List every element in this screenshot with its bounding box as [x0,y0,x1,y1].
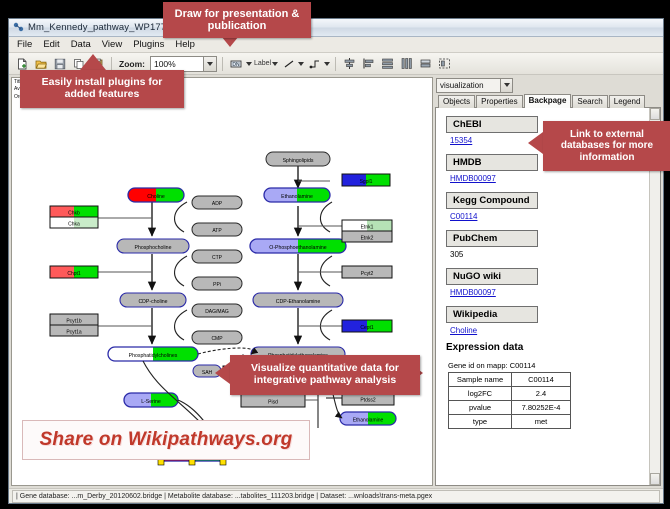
gene-box-sgpl1[interactable]: Sgpl1 [342,174,390,186]
svg-text:Chpt1: Chpt1 [67,271,81,277]
db-header-wikipedia: Wikipedia [446,306,538,323]
expression-table: Sample name C00114 log2FC 2.4 pvalue 7.8… [448,372,571,429]
line-dropdown[interactable] [280,55,304,72]
svg-text:Pcyt1b: Pcyt1b [66,319,82,325]
title-bar: Mm_Kennedy_pathway_WP1771_45176.gpml [9,19,663,37]
label-dropdown[interactable]: Label [254,60,278,67]
gene-box-etnk1-etnk2[interactable]: Etnk1 Etnk2 [342,220,392,242]
menu-data[interactable]: Data [66,38,96,52]
align-center-icon[interactable] [341,55,358,72]
node-phosphocholine[interactable]: Phosphocholine [117,239,189,253]
db-header-nugo-wiki: NuGO wiki [446,268,538,285]
db-header-kegg-compound: Kegg Compound [446,192,538,209]
tab-properties[interactable]: Properties [476,95,522,108]
gene-box-chpt1[interactable]: Chpt1 [50,266,98,278]
svg-text:Chka: Chka [68,222,80,228]
expr-val-pvalue: 7.80252E-4 [512,401,571,415]
datanode-icon[interactable]: DN [228,55,245,72]
svg-text:Sgpl1: Sgpl1 [360,179,373,185]
chevron-down-icon[interactable] [203,57,216,71]
db-link-wikipedia[interactable]: Choline [450,326,652,335]
expr-val-log2fc: 2.4 [512,387,571,401]
distribute-horizontal-icon[interactable] [398,55,415,72]
visualization-value: visualization [440,81,484,90]
table-row: pvalue 7.80252E-4 [449,401,571,415]
db-header-chebi: ChEBI [446,116,538,133]
svg-text:DAG/MAG: DAG/MAG [205,309,229,315]
callout-links: Link to external databases for more info… [543,121,670,171]
callout-plugins: Easily install plugins for added feature… [20,70,184,108]
callout-draw: Draw for presentation & publication [163,2,311,38]
svg-text:ATP: ATP [212,228,222,234]
menu-edit[interactable]: Edit [38,38,64,52]
svg-text:Etnk2: Etnk2 [361,236,374,242]
svg-text:Phosphatidylcholines: Phosphatidylcholines [129,353,178,359]
status-bar-text: | Gene database: ...m_Derby_20120602.bri… [12,490,660,503]
distribute-vertical-icon[interactable] [379,55,396,72]
table-row: log2FC 2.4 [449,387,571,401]
menu-bar: File Edit Data View Plugins Help [9,37,663,53]
scroll-up-arrow[interactable] [650,108,660,120]
pathvisio-icon [13,22,24,33]
node-cdp-choline[interactable]: CDP-choline [120,293,186,307]
svg-text:Ethanolamine: Ethanolamine [353,418,384,424]
gene-box-pisd[interactable]: Pisd [241,394,318,407]
chevron-down-icon[interactable] [324,62,330,66]
db-value-pubchem: 305 [450,250,652,259]
callout-share-text: Share on Wikipathways.org [40,429,293,451]
node-atp[interactable]: ATP [192,223,242,236]
chevron-down-icon[interactable] [246,62,252,66]
svg-text:CDP-Ethanolamine: CDP-Ethanolamine [276,299,321,305]
svg-text:O-Phosphoethanolamine: O-Phosphoethanolamine [269,245,327,251]
node-choline-top[interactable]: Choline [128,188,184,202]
node-phosphatidylcholines[interactable]: Phosphatidylcholines [108,347,198,361]
svg-text:CDP-choline: CDP-choline [138,299,167,305]
zoom-label: Zoom: [119,59,145,69]
chevron-down-icon[interactable] [272,62,278,66]
gene-box-cept1[interactable]: Cept1 [342,320,392,332]
db-header-hmdb: HMDB [446,154,538,171]
callout-visualize: Visualize quantitative data for integrat… [230,355,420,395]
expr-key-type: type [449,415,512,429]
tab-objects[interactable]: Objects [438,95,475,108]
expr-val-type: met [512,415,571,429]
align-left-icon[interactable] [360,55,377,72]
callout-share: Share on Wikipathways.org [22,420,310,460]
expression-data-heading: Expression data [446,342,652,353]
visualization-bar: visualization [435,77,661,93]
node-o-phosphoethanolamine[interactable]: O-Phosphoethanolamine [250,239,346,253]
status-bar: | Gene database: ...m_Derby_20120602.bri… [9,488,663,503]
gene-id-on-mapp: Gene id on mapp: C00114 [448,361,652,370]
expr-key-pvalue: pvalue [449,401,512,415]
line-icon[interactable] [280,55,297,72]
expr-val-sample-name: C00114 [512,373,571,387]
zoom-value: 100% [154,59,176,69]
svg-text:Chkb: Chkb [68,211,80,217]
tab-search[interactable]: Search [572,95,607,108]
svg-text:CMP: CMP [211,336,223,342]
svg-text:Sphingolipids: Sphingolipids [283,158,314,164]
expr-key-sample-name: Sample name [449,373,512,387]
svg-text:Etnk1: Etnk1 [361,225,374,231]
db-link-hmdb[interactable]: HMDB00097 [450,174,652,183]
svg-text:Pcyt1a: Pcyt1a [66,330,82,336]
node-cmp[interactable]: CMP [192,331,242,344]
svg-text:Phosphocholine: Phosphocholine [135,245,172,251]
menu-file[interactable]: File [12,38,37,52]
visualization-combo[interactable]: visualization [436,78,513,93]
toolbar-separator [111,57,112,71]
tab-backpage[interactable]: Backpage [524,94,572,108]
screenshot-root: Mm_Kennedy_pathway_WP1771_45176.gpml Fil… [0,0,670,509]
chevron-down-icon[interactable] [298,62,304,66]
group-icon[interactable] [436,55,453,72]
db-header-pubchem: PubChem [446,230,538,247]
node-ppi[interactable]: PPi [192,277,242,290]
table-row: Sample name C00114 [449,373,571,387]
expr-key-log2fc: log2FC [449,387,512,401]
svg-text:Choline: Choline [147,194,165,200]
node-cdp-ethanolamine[interactable]: CDP-Ethanolamine [253,293,343,307]
node-dag-mag[interactable]: DAG/MAG [192,304,242,317]
gene-box-chkb-chka[interactable]: Chkb Chka [50,206,98,228]
node-sphingolipids[interactable]: Sphingolipids [266,152,330,166]
node-ctp[interactable]: CTP [192,250,242,263]
menu-view[interactable]: View [97,38,127,52]
interaction-dropdown[interactable] [306,55,330,72]
node-ethanolamine-bottom[interactable]: Ethanolamine [340,412,396,425]
svg-text:Pcyt2: Pcyt2 [361,271,374,277]
db-link-nugo-wiki[interactable]: HMDB00097 [450,288,652,297]
node-ethanolamine[interactable]: Ethanolamine [264,188,330,202]
tab-legend[interactable]: Legend [609,95,646,108]
panel-tabs: Objects Properties Backpage Search Legen… [435,93,661,108]
svg-text:PPi: PPi [213,282,221,288]
svg-text:Cept1: Cept1 [360,325,374,331]
gene-box-pcyt1b-pcyt1a[interactable]: Pcyt1b Pcyt1a [50,314,98,336]
svg-text:Ptdss2: Ptdss2 [360,398,376,404]
svg-text:ADP: ADP [212,201,223,207]
svg-text:CTP: CTP [212,255,223,261]
menu-help[interactable]: Help [170,38,200,52]
node-adp[interactable]: ADP [192,196,242,209]
db-link-kegg-compound[interactable]: C00114 [450,212,652,221]
callout-visualize-arrow [215,362,230,384]
svg-text:Ethanolamine: Ethanolamine [281,194,313,200]
label-dropdown-label: Label [254,60,271,67]
callout-links-arrow [528,132,543,154]
stack-icon[interactable] [417,55,434,72]
table-row: type met [449,415,571,429]
chevron-down-icon[interactable] [500,79,512,92]
svg-text:L-Serine: L-Serine [141,399,161,405]
gene-box-pcyt2[interactable]: Pcyt2 [342,266,392,278]
callout-plugins-arrow [80,54,106,70]
svg-text:DN: DN [233,62,241,68]
menu-plugins[interactable]: Plugins [128,38,169,52]
scroll-down-arrow[interactable] [650,473,660,485]
svg-text:SAH: SAH [202,370,213,376]
svg-text:Pisd: Pisd [268,400,278,406]
datanode-dropdown[interactable]: DN [228,55,252,72]
toolbar-separator [335,57,336,71]
interaction-icon[interactable] [306,55,323,72]
toolbar-separator [222,57,223,71]
